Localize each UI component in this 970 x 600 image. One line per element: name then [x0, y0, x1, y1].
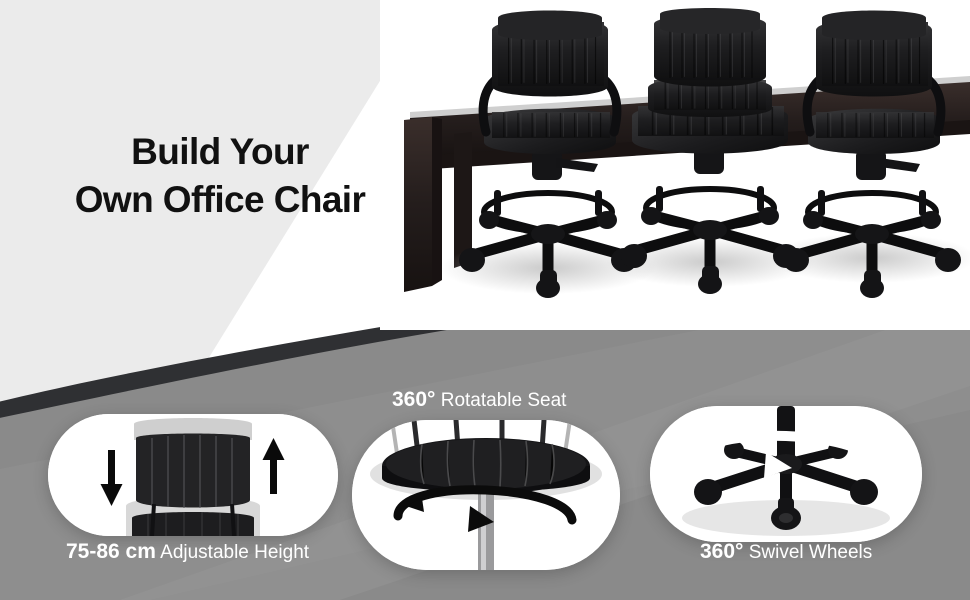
adjustable-height-label: Adjustable Height: [160, 542, 309, 563]
adjustable-height-value: 75-86 cm: [66, 540, 156, 563]
swivel-wheels-card: [650, 406, 922, 542]
swivel-wheels-value: 360°: [700, 540, 743, 563]
headline: Build Your Own Office Chair: [30, 128, 410, 224]
headline-line-1: Build Your: [30, 128, 410, 176]
caption-rotatable-seat: 360° Rotatable Seat: [392, 389, 566, 410]
caption-swivel-wheels: 360° Swivel Wheels: [700, 541, 872, 562]
feature-callouts: 75-86 cm Adjustable Height 360° Rotatabl…: [0, 386, 970, 600]
rotatable-seat-card: [352, 420, 620, 570]
headline-line-2: Own Office Chair: [30, 176, 410, 224]
seat-cushion-with-rotation-arrow-icon: [352, 420, 620, 570]
swivel-wheels-label: Swivel Wheels: [749, 542, 873, 563]
rotatable-seat-label: Rotatable Seat: [441, 390, 567, 411]
rotatable-seat-value: 360°: [392, 388, 435, 411]
product-banner: Build Your Own Office Chair: [0, 0, 970, 600]
chair-back-with-up-down-arrows-icon: [48, 414, 338, 536]
five-star-base-casters-with-rotation-arrow-icon: [650, 406, 922, 542]
caption-adjustable-height: 75-86 cm Adjustable Height: [66, 541, 309, 562]
hero-image: [380, 0, 970, 330]
adjustable-height-card: [48, 414, 338, 536]
